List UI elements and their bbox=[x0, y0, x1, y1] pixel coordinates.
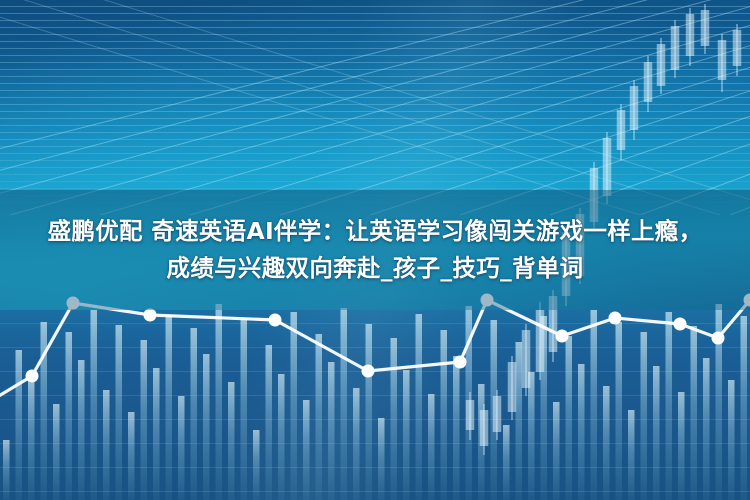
banner-image: 盛鹏优配 奇速英语AI伴学：让英语学习像闯关游戏一样上瘾， 成绩与兴趣双向奔赴_… bbox=[0, 0, 750, 500]
headline-block: 盛鹏优配 奇速英语AI伴学：让英语学习像闯关游戏一样上瘾， 成绩与兴趣双向奔赴_… bbox=[0, 190, 750, 310]
headline-line-2: 成绩与兴趣双向奔赴_孩子_技巧_背单词 bbox=[167, 253, 584, 284]
headline-line-1: 盛鹏优配 奇速英语AI伴学：让英语学习像闯关游戏一样上瘾， bbox=[48, 216, 703, 247]
